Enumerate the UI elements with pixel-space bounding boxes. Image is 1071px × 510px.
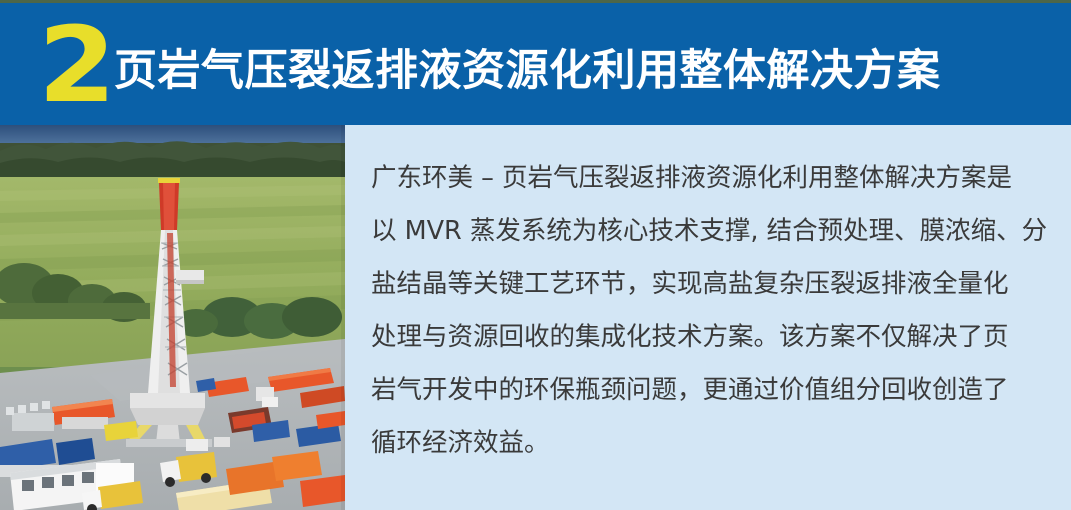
paragraph-line: 循环经济效益。 xyxy=(371,417,1049,470)
page-title: 页岩气压裂返排液资源化利用整体解决方案 xyxy=(114,30,941,104)
section-number-badge: 2 xyxy=(38,26,114,108)
slide-root: 2 页岩气压裂返排液资源化利用整体解决方案 xyxy=(0,0,1071,510)
paragraph-line: 广东环美 – 页岩气压裂返排液资源化利用整体解决方案是 xyxy=(371,152,1049,205)
paragraph-line: 处理与资源回收的集成化技术方案。该方案不仅解决了页 xyxy=(371,311,1049,364)
solution-description-paragraph: 广东环美 – 页岩气压裂返排液资源化利用整体解决方案是 以 MVR 蒸发系统为核… xyxy=(371,152,1049,470)
content-area: 广东环美 – 页岩气压裂返排液资源化利用整体解决方案是 以 MVR 蒸发系统为核… xyxy=(0,125,1071,510)
paragraph-line: 盐结晶等关键工艺环节，实现高盐复杂压裂返排液全量化 xyxy=(371,258,1049,311)
drilling-rig-photo xyxy=(0,125,345,510)
paragraph-line: 以 MVR 蒸发系统为核心技术支撑, 结合预处理、膜浓缩、分 xyxy=(371,205,1049,258)
section-header-banner: 2 页岩气压裂返排液资源化利用整体解决方案 xyxy=(0,3,1071,125)
section-number-glyph: 2 xyxy=(38,26,120,108)
drilling-rig-illustration xyxy=(0,125,345,510)
paragraph-line: 岩气开发中的环保瓶颈问题，更通过价值组分回收创造了 xyxy=(371,364,1049,417)
